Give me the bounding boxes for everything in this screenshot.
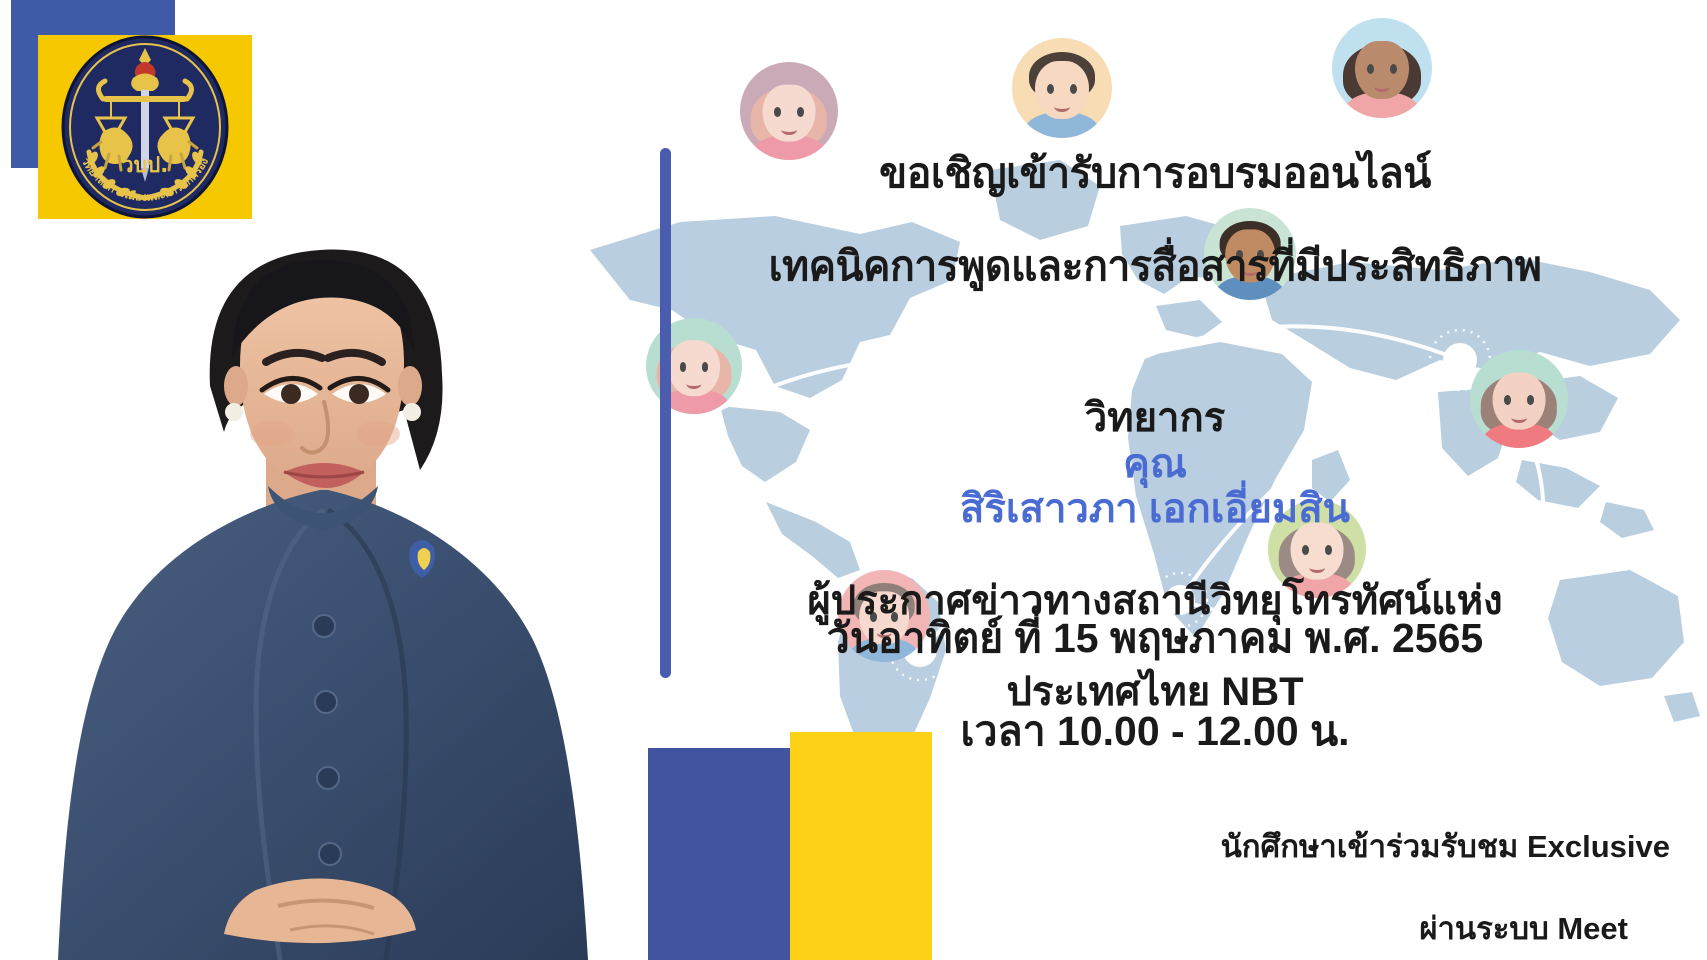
speaker-honorific: คุณ	[1123, 442, 1187, 486]
title-line-2: เทคนิคการพูดและการสื่อสารที่มีประสิทธิภา…	[769, 243, 1542, 289]
poster-canvas: วบป. วิทยาลัยการเมืองและการปกครอง	[0, 0, 1707, 960]
footer-platform-text: ผ่านระบบ Meet	[1419, 909, 1628, 950]
event-date: วันอาทิตย์ ที่ 15 พฤษภาคม พ.ศ. 2565	[610, 615, 1700, 662]
footer-line-1: นักศึกษาเข้าร่วมรับชม Exclusive	[880, 827, 1670, 868]
presenter-photo	[28, 190, 628, 960]
speaker-role-label: วิทยากร	[1085, 396, 1225, 440]
event-datetime: วันอาทิตย์ ที่ 15 พฤษภาคม พ.ศ. 2565 เวลา…	[610, 568, 1700, 802]
speaker-full-name: สิริเสาวภา เอกเอี่ยมสิน	[960, 487, 1350, 531]
footer-line-2-wrap: ผ่านระบบ Meet	[880, 909, 1670, 950]
speaker-name-line: วิทยากร คุณ สิริเสาวภา เอกเอี่ยมสิน	[610, 351, 1700, 533]
event-time: เวลา 10.00 - 12.00 น.	[610, 708, 1700, 755]
google-meet-icon	[1632, 917, 1670, 949]
title-line-1: ขอเชิญเข้ารับการอบรมออนไลน์	[879, 150, 1431, 196]
footer-note: นักศึกษาเข้าร่วมรับชม Exclusive ผ่านระบบ…	[880, 786, 1670, 950]
poster-title: ขอเชิญเข้ารับการอบรมออนไลน์ เทคนิคการพูด…	[610, 103, 1700, 290]
svg-text:วบป.: วบป.	[122, 153, 168, 177]
